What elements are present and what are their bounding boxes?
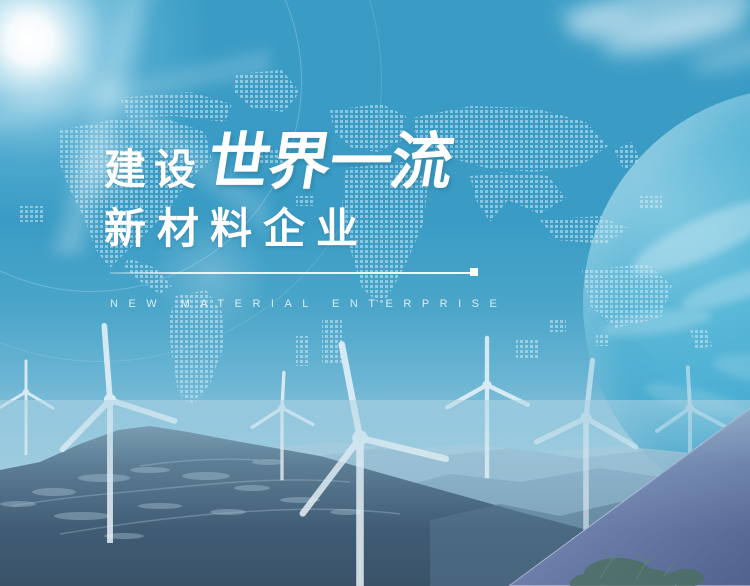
headline-line-1: 建设 世界一流 — [104, 132, 504, 194]
divider-end-cap — [470, 268, 478, 276]
headline-block: 建设 世界一流 新材料企业 — [104, 132, 504, 250]
headline-emphasis: 世界一流 — [203, 132, 457, 194]
hero-banner: 建设 世界一流 新材料企业 NEW MATERIAL ENTERPRISE — [0, 0, 750, 586]
subtitle-text: NEW MATERIAL ENTERPRISE — [110, 298, 507, 310]
headline-line-2: 新材料企业 — [104, 208, 504, 250]
divider-rule — [110, 272, 470, 274]
headline-prefix: 建设 — [104, 149, 204, 194]
landscape-scene — [0, 0, 750, 586]
wind-turbine-icon — [0, 361, 53, 455]
